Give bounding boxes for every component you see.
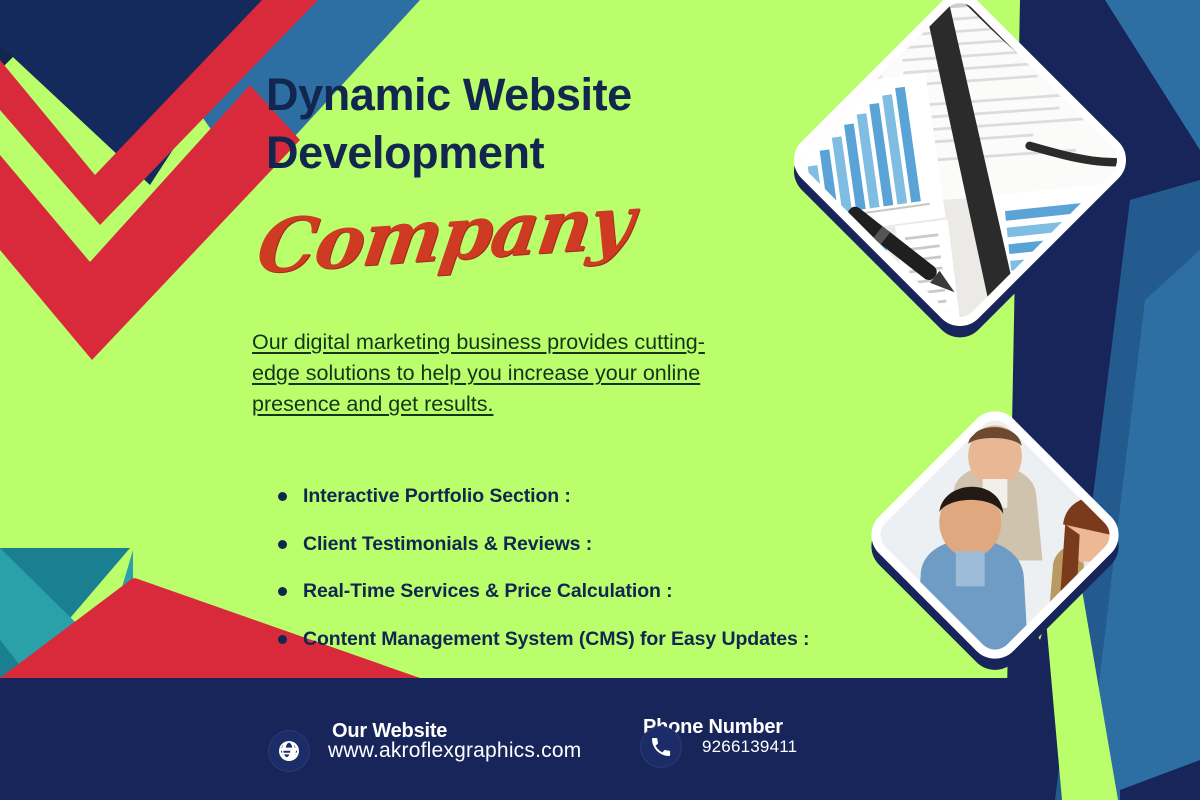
bullet-dot-icon [278, 540, 287, 549]
website-value: www.akroflexgraphics.com [328, 739, 581, 763]
phone-value: 9266139411 [702, 737, 797, 757]
list-item-label: Real-Time Services & Price Calculation : [303, 578, 673, 606]
list-item: Client Testimonials & Reviews : [278, 531, 838, 559]
bullet-dot-icon [278, 587, 287, 596]
website-contact-group[interactable]: www.akroflexgraphics.com [268, 730, 581, 772]
poster-content: Dynamic Website Development Company Our … [0, 0, 1200, 800]
globe-icon[interactable] [268, 730, 310, 772]
bullet-dot-icon [278, 492, 287, 501]
phone-icon[interactable] [640, 726, 682, 768]
list-item-label: Content Management System (CMS) for Easy… [303, 626, 809, 654]
phone-contact-group[interactable]: 9266139411 [640, 726, 797, 768]
poster-canvas: Dynamic Website Development Company Our … [0, 0, 1200, 800]
feature-list: Interactive Portfolio Section : Client T… [278, 483, 838, 654]
list-item-label: Client Testimonials & Reviews : [303, 531, 592, 559]
list-item-label: Interactive Portfolio Section : [303, 483, 571, 511]
page-title: Dynamic Website Development [266, 66, 866, 181]
bullet-dot-icon [278, 635, 287, 644]
list-item: Content Management System (CMS) for Easy… [278, 626, 838, 654]
lede-paragraph: Our digital marketing business provides … [252, 327, 752, 421]
list-item: Interactive Portfolio Section : [278, 483, 838, 511]
script-accent-word: Company [252, 179, 638, 291]
list-item: Real-Time Services & Price Calculation : [278, 578, 838, 606]
